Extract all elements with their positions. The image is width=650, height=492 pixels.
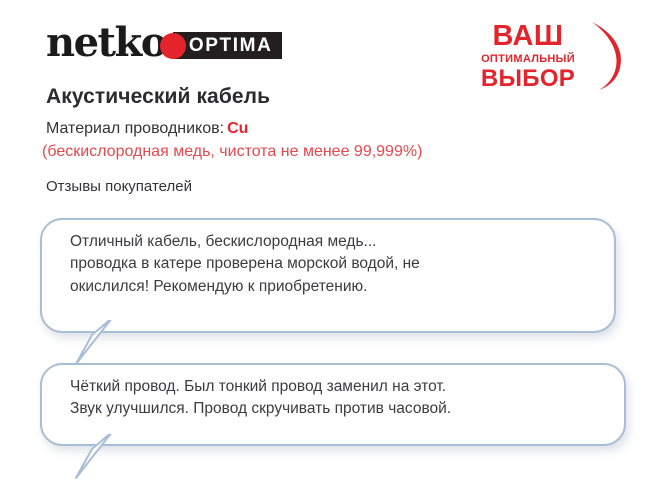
page-title: Акустический кабель xyxy=(46,85,270,109)
header: netko OPTIMA ВАШ ОПТИМАЛЬНЫЙ ВЫБОР xyxy=(0,0,650,96)
material-line: Материал проводников:Cu xyxy=(46,120,248,138)
review-text: Отличный кабель, бескислородная медь... … xyxy=(70,231,600,298)
logo-wordmark: netko xyxy=(46,23,166,63)
purity-note: (бескислородная медь, чистота не менее 9… xyxy=(42,143,422,161)
material-value: Cu xyxy=(227,120,248,137)
netko-optima-logo: netko OPTIMA xyxy=(46,22,282,64)
logo-optima-bar: OPTIMA xyxy=(173,32,283,59)
logo-optima-label: OPTIMA xyxy=(189,36,273,55)
reviews-heading: Отзывы покупателей xyxy=(46,178,192,195)
your-optimal-choice-badge: ВАШ ОПТИМАЛЬНЫЙ ВЫБОР xyxy=(464,22,624,86)
badge-line-optimalnyy: ОПТИМАЛЬНЫЙ xyxy=(464,53,592,66)
review-text: Чёткий провод. Был тонкий провод заменил… xyxy=(70,376,610,421)
product-info-card: netko OPTIMA ВАШ ОПТИМАЛЬНЫЙ ВЫБОР Акуст… xyxy=(0,0,650,488)
badge-text-stack: ВАШ ОПТИМАЛЬНЫЙ ВЫБОР xyxy=(464,22,592,91)
logo-red-dot-icon xyxy=(160,33,186,59)
badge-line-vash: ВАШ xyxy=(464,22,592,52)
badge-line-vybor: ВЫБОР xyxy=(464,66,592,91)
material-label: Материал проводников: xyxy=(46,120,224,137)
badge-arc-icon xyxy=(586,18,630,92)
